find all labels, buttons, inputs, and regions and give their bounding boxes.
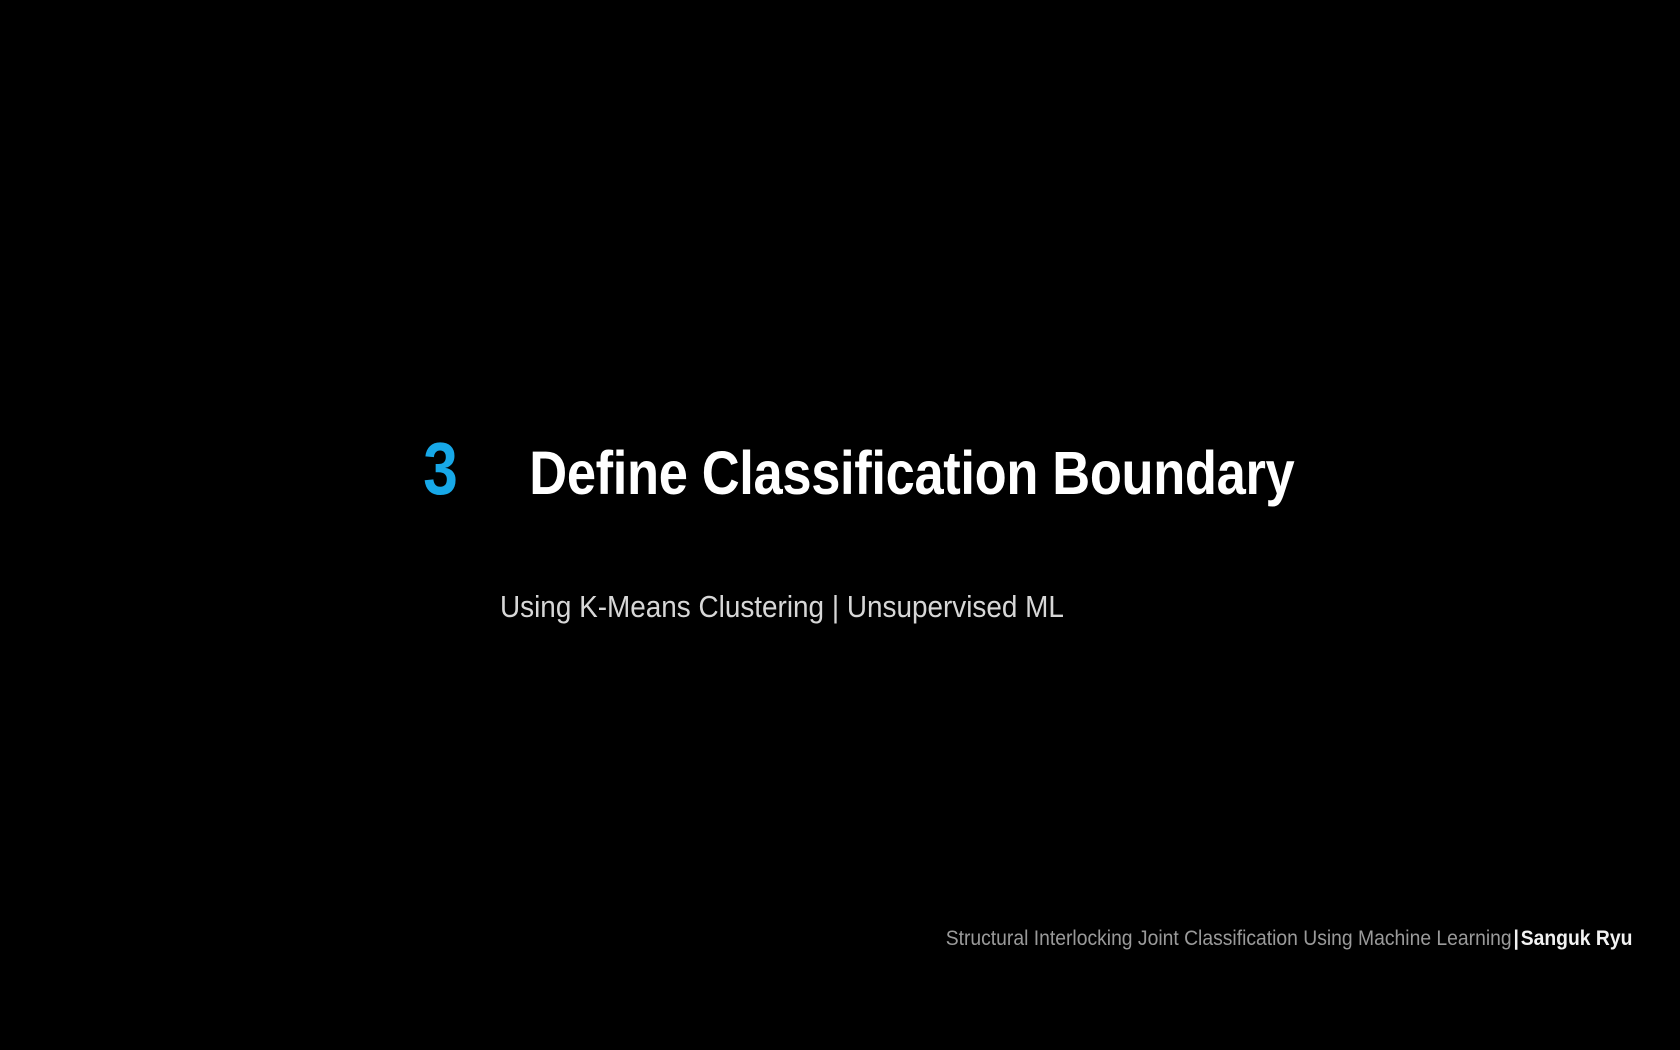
section-number: 3 [423, 432, 457, 506]
footer-author-name: Sanguk Ryu [1520, 927, 1632, 950]
page-title: Define Classification Boundary [529, 443, 1294, 504]
footer-separator: | [1511, 927, 1520, 950]
slide-footer: Structural Interlocking Joint Classifica… [945, 926, 1632, 951]
section-title-block: 3 Define Classification Boundary [420, 432, 1356, 506]
presentation-slide: 3 Define Classification Boundary Using K… [0, 0, 1680, 1050]
page-subtitle: Using K-Means Clustering | Unsupervised … [500, 588, 1064, 625]
footer-project-title: Structural Interlocking Joint Classifica… [945, 927, 1511, 950]
